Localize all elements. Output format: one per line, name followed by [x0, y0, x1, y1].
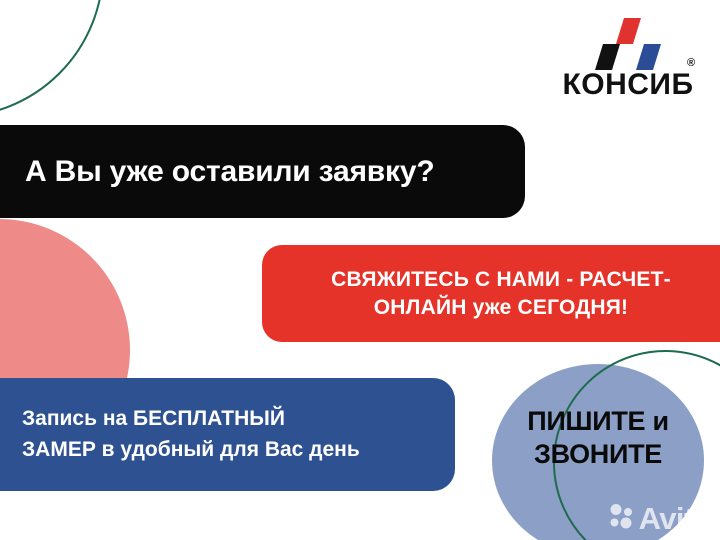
banner-question-text: А Вы уже оставили заявку?	[25, 155, 495, 189]
decorative-circle-outline-top-left	[0, 0, 104, 118]
brand-wordmark: КОНСИБ ®	[552, 70, 704, 100]
banner-contact-line-2-part-3: СЕГОДНЯ!	[518, 296, 629, 319]
brand-logo: КОНСИБ ®	[552, 18, 704, 100]
banner-contact: СВЯЖИТЕСЬ С НАМИ - РАСЧЕТ- ОНЛАЙН уже СЕ…	[262, 245, 720, 342]
banner-question: А Вы уже оставили заявку?	[0, 125, 525, 218]
advertisement-banner: КОНСИБ ® А Вы уже оставили заявку? СВЯЖИ…	[0, 0, 720, 540]
banner-free-measurement: Запись на БЕСПЛАТНЫЙ ЗАМЕР в удобный для…	[0, 378, 455, 491]
callout-write-and-call: ПИШИТЕ и ЗВОНИТЕ	[492, 405, 704, 471]
registered-trademark-symbol: ®	[687, 58, 696, 69]
banner-contact-line-1: СВЯЖИТЕСЬ С НАМИ - РАСЧЕТ-	[284, 266, 718, 294]
callout-line-2: ЗВОНИТЕ	[492, 438, 704, 471]
banner-contact-line-2-part-1: ОНЛАЙН	[374, 296, 473, 319]
banner-measure-line-2: ЗАМЕР в удобный для Вас день	[22, 435, 433, 465]
brand-wordmark-text: КОНСИБ	[562, 68, 693, 101]
banner-contact-line-2: ОНЛАЙН уже СЕГОДНЯ!	[284, 294, 718, 322]
konsib-logo-mark-icon	[552, 18, 704, 70]
banner-contact-line-2-part-2: уже	[473, 296, 518, 319]
callout-line-1: ПИШИТЕ и	[492, 405, 704, 438]
banner-measure-line-1: Запись на БЕСПЛАТНЫЙ	[22, 404, 433, 434]
